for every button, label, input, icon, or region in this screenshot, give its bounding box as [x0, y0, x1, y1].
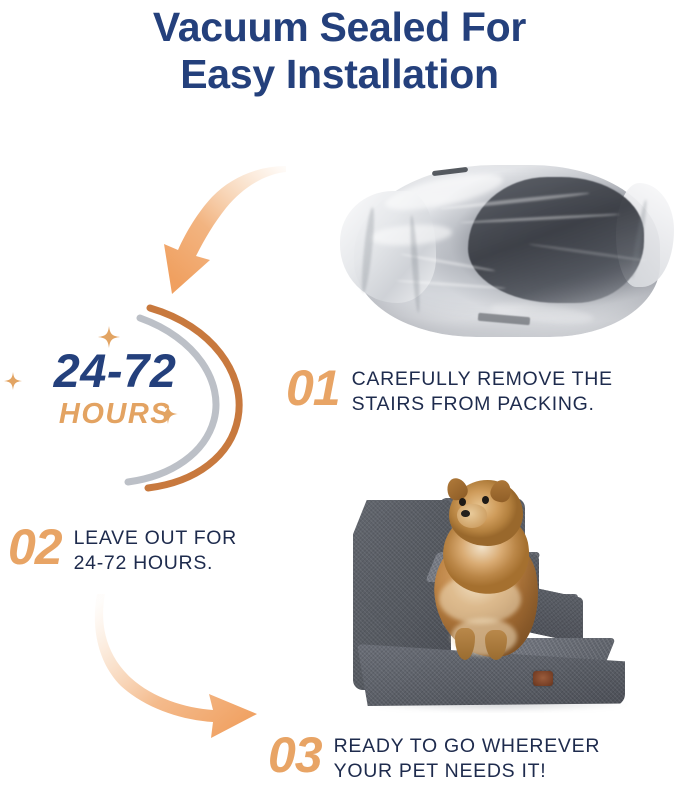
step-number-03: 03	[268, 730, 322, 780]
vacuum-sealed-bag-photo	[340, 155, 675, 350]
step-number-02: 02	[8, 522, 62, 572]
badge-text-block: 24-72 HOURS	[20, 346, 210, 430]
arrow-to-step-03-icon	[95, 592, 275, 717]
dog-front-leg	[455, 628, 475, 660]
title-line-2: Easy Installation	[0, 51, 679, 98]
bag-illustration	[340, 155, 675, 350]
pet-stairs-photo	[335, 468, 675, 713]
badge-duration-unit: HOURS	[20, 398, 210, 430]
badge-duration-value: 24-72	[20, 346, 210, 396]
step-text-01: CAREFULLY REMOVE THE STAIRS FROM PACKING…	[340, 363, 613, 417]
step-03-line-2: YOUR PET NEEDS IT!	[334, 759, 600, 784]
page-title: Vacuum Sealed For Easy Installation	[0, 4, 679, 98]
dog-nose	[461, 510, 470, 517]
step-number-01: 01	[286, 363, 340, 413]
title-line-1: Vacuum Sealed For	[0, 4, 679, 51]
step-text-02: LEAVE OUT FOR 24-72 HOURS.	[62, 522, 237, 576]
step-02-line-1: LEAVE OUT FOR	[74, 526, 237, 551]
step-item-01: 01 CAREFULLY REMOVE THE STAIRS FROM PACK…	[286, 363, 613, 417]
step-01-line-2: STAIRS FROM PACKING.	[352, 392, 613, 417]
step-text-03: READY TO GO WHEREVER YOUR PET NEEDS IT!	[322, 730, 600, 784]
step-01-line-1: CAREFULLY REMOVE THE	[352, 367, 613, 392]
dog-eye-right	[482, 496, 489, 504]
step-02-line-2: 24-72 HOURS.	[74, 551, 237, 576]
sparkle-icon-top	[98, 326, 120, 348]
brand-logo-patch	[533, 671, 553, 686]
step-item-03: 03 READY TO GO WHEREVER YOUR PET NEEDS I…	[268, 730, 600, 784]
sparkle-icon-left	[4, 372, 22, 390]
infographic-page: Vacuum Sealed For Easy Installation	[0, 0, 679, 789]
dog-eye-left	[459, 498, 466, 506]
arrow-to-step-01-icon	[148, 168, 288, 303]
pomeranian-dog	[421, 478, 551, 660]
duration-badge: 24-72 HOURS	[0, 300, 280, 495]
step-item-02: 02 LEAVE OUT FOR 24-72 HOURS.	[8, 522, 237, 576]
sparkle-icon-right	[158, 404, 178, 424]
step-03-line-1: READY TO GO WHEREVER	[334, 734, 600, 759]
